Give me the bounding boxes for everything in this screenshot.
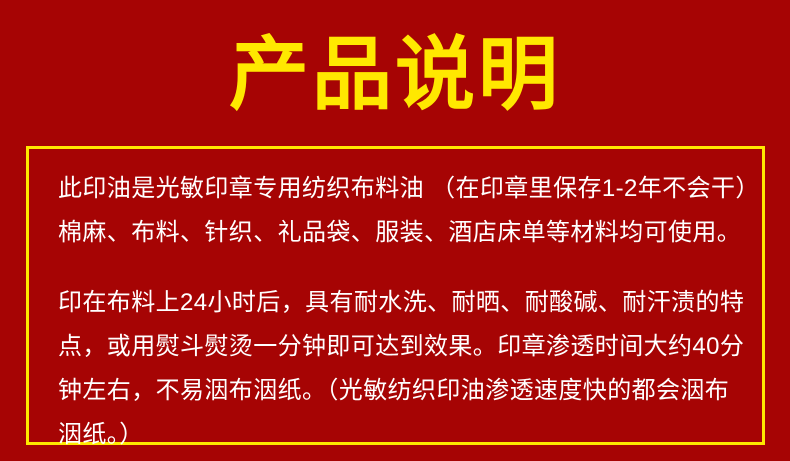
paragraph-spacer (58, 255, 736, 281)
description-line: 印在布料上24小时后，具有耐水洗、耐晒、耐酸碱、耐汗渍的特 (58, 281, 736, 325)
description-line: 棉麻、布料、针织、礼品袋、服装、酒店床单等材料均可使用。 (58, 211, 736, 255)
page-title: 产品说明 (229, 35, 561, 115)
title-area: 产品说明 (0, 0, 790, 146)
description-paragraph-1: 此印油是光敏印章专用纺织布料油 （在印章里保存1-2年不会干） 棉麻、布料、针织… (58, 167, 736, 255)
description-line: 洇纸。） (58, 413, 736, 457)
description-box: 此印油是光敏印章专用纺织布料油 （在印章里保存1-2年不会干） 棉麻、布料、针织… (26, 146, 765, 445)
description-line: 钟左右，不易洇布洇纸。（光敏纺织印油渗透速度快的都会洇布 (58, 369, 736, 413)
product-description-banner: 产品说明 此印油是光敏印章专用纺织布料油 （在印章里保存1-2年不会干） 棉麻、… (0, 0, 790, 461)
description-body: 此印油是光敏印章专用纺织布料油 （在印章里保存1-2年不会干） 棉麻、布料、针织… (58, 167, 736, 457)
description-line: 此印油是光敏印章专用纺织布料油 （在印章里保存1-2年不会干） (58, 167, 736, 211)
description-line: 点，或用熨斗熨烫一分钟即可达到效果。印章渗透时间大约40分 (58, 325, 736, 369)
description-paragraph-2: 印在布料上24小时后，具有耐水洗、耐晒、耐酸碱、耐汗渍的特 点，或用熨斗熨烫一分… (58, 281, 736, 457)
